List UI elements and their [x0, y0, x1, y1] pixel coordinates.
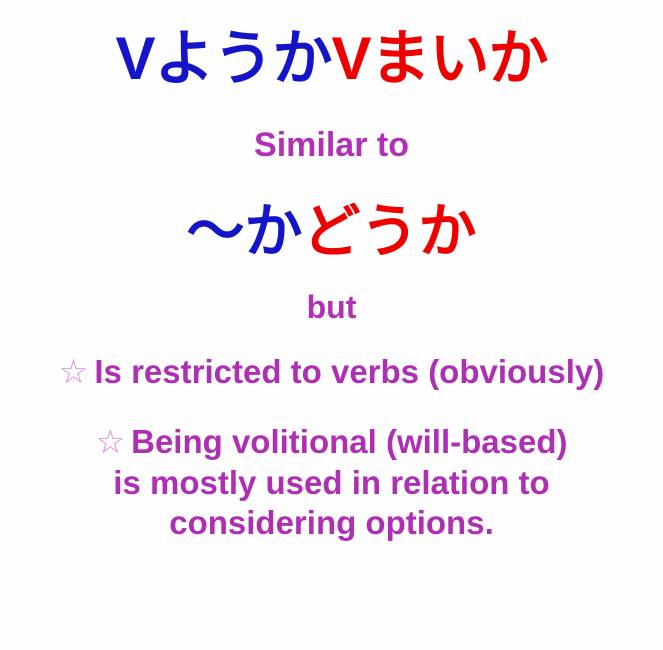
bullet-2-text-line-3: considering options.	[0, 503, 663, 543]
title-segment-v-you: V	[115, 25, 154, 92]
title-segment-v-mai: V	[332, 25, 371, 92]
bullet-1-text: Is restricted to verbs (obviously)	[94, 353, 604, 390]
page-title: VようかVまいか	[0, 18, 663, 100]
bullet-2-text-line-1: Being volitional (will-based)	[131, 423, 567, 460]
slide-canvas: VようかVまいか Similar to 〜かどうか but ☆Is restri…	[0, 0, 663, 650]
similar-to-label: Similar to	[0, 126, 663, 165]
comparison-segment-douka: どうか	[303, 197, 477, 265]
but-label: but	[0, 289, 663, 326]
bullet-1-row: ☆Is restricted to verbs (obviously)	[0, 352, 663, 392]
bullet-item-1: ☆Is restricted to verbs (obviously)	[0, 352, 663, 392]
star-outline-icon: ☆	[96, 422, 126, 461]
bullet-2-row: ☆Being volitional (will-based)	[0, 422, 663, 462]
title-segment-maika: まいか	[371, 24, 548, 94]
bullet-item-2: ☆Being volitional (will-based) is mostly…	[0, 422, 663, 543]
comparison-segment-ka: 〜か	[186, 197, 302, 265]
star-outline-icon: ☆	[59, 352, 89, 391]
comparison-phrase: 〜かどうか	[0, 195, 663, 267]
bullet-2-text-line-2: is mostly used in relation to	[0, 463, 663, 503]
title-segment-youka: ようか	[155, 24, 332, 94]
